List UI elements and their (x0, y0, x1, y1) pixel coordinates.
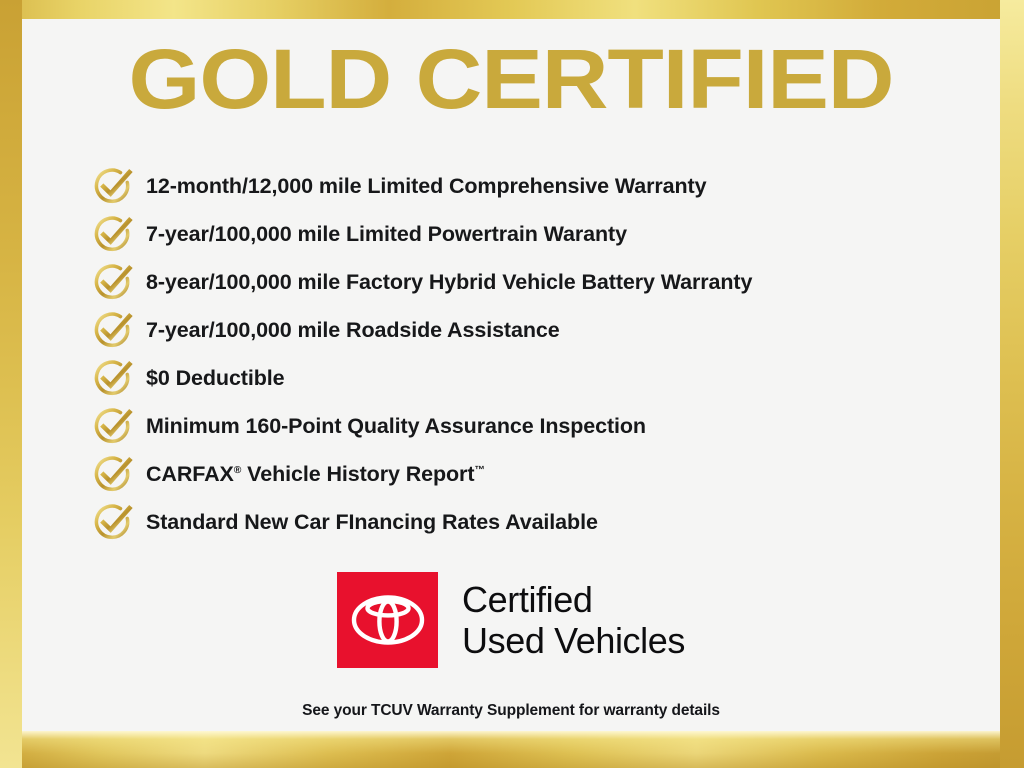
toyota-emblem-badge (337, 572, 438, 668)
trademark-mark: ™ (474, 464, 484, 475)
frame-border-bottom (0, 731, 1024, 768)
check-circle-icon (92, 165, 134, 207)
check-circle-icon (92, 309, 134, 351)
feature-row: CARFAX® Vehicle History Report™ (92, 450, 972, 498)
feature-label: 12-month/12,000 mile Limited Comprehensi… (146, 174, 706, 199)
feature-row: 7-year/100,000 mile Limited Powertrain W… (92, 210, 972, 258)
feature-row: 7-year/100,000 mile Roadside Assistance (92, 306, 972, 354)
feature-label: CARFAX® Vehicle History Report™ (146, 462, 485, 487)
check-circle-icon (92, 261, 134, 303)
feature-label: $0 Deductible (146, 366, 285, 391)
feature-label: Standard New Car FInancing Rates Availab… (146, 510, 598, 535)
feature-row: 12-month/12,000 mile Limited Comprehensi… (92, 162, 972, 210)
feature-label: 7-year/100,000 mile Limited Powertrain W… (146, 222, 627, 247)
feature-row: Minimum 160-Point Quality Assurance Insp… (92, 402, 972, 450)
check-circle-icon (92, 453, 134, 495)
check-circle-icon (92, 213, 134, 255)
check-circle-icon (92, 501, 134, 543)
feature-label: Minimum 160-Point Quality Assurance Insp… (146, 414, 646, 439)
toyota-emblem-icon (351, 594, 425, 646)
toyota-wordmark: Certified Used Vehicles (462, 579, 685, 661)
feature-row: 8-year/100,000 mile Factory Hybrid Vehic… (92, 258, 972, 306)
feature-list: 12-month/12,000 mile Limited Comprehensi… (92, 162, 972, 546)
wordmark-line-1: Certified (462, 579, 685, 620)
wordmark-line-2: Used Vehicles (462, 620, 685, 661)
page-title: GOLD CERTIFIED (0, 34, 1024, 124)
toyota-certified-used-vehicles-lockup: Certified Used Vehicles (22, 572, 1000, 668)
feature-label: 8-year/100,000 mile Factory Hybrid Vehic… (146, 270, 752, 295)
check-circle-icon (92, 405, 134, 447)
registered-mark: ® (234, 464, 242, 475)
feature-label: 7-year/100,000 mile Roadside Assistance (146, 318, 560, 343)
feature-row: $0 Deductible (92, 354, 972, 402)
gold-certified-banner: GOLD CERTIFIED 12-month/12,000 mile Limi… (0, 0, 1024, 768)
feature-row: Standard New Car FInancing Rates Availab… (92, 498, 972, 546)
frame-border-top (0, 0, 1024, 19)
warranty-footnote: See your TCUV Warranty Supplement for wa… (22, 702, 1000, 720)
check-circle-icon (92, 357, 134, 399)
